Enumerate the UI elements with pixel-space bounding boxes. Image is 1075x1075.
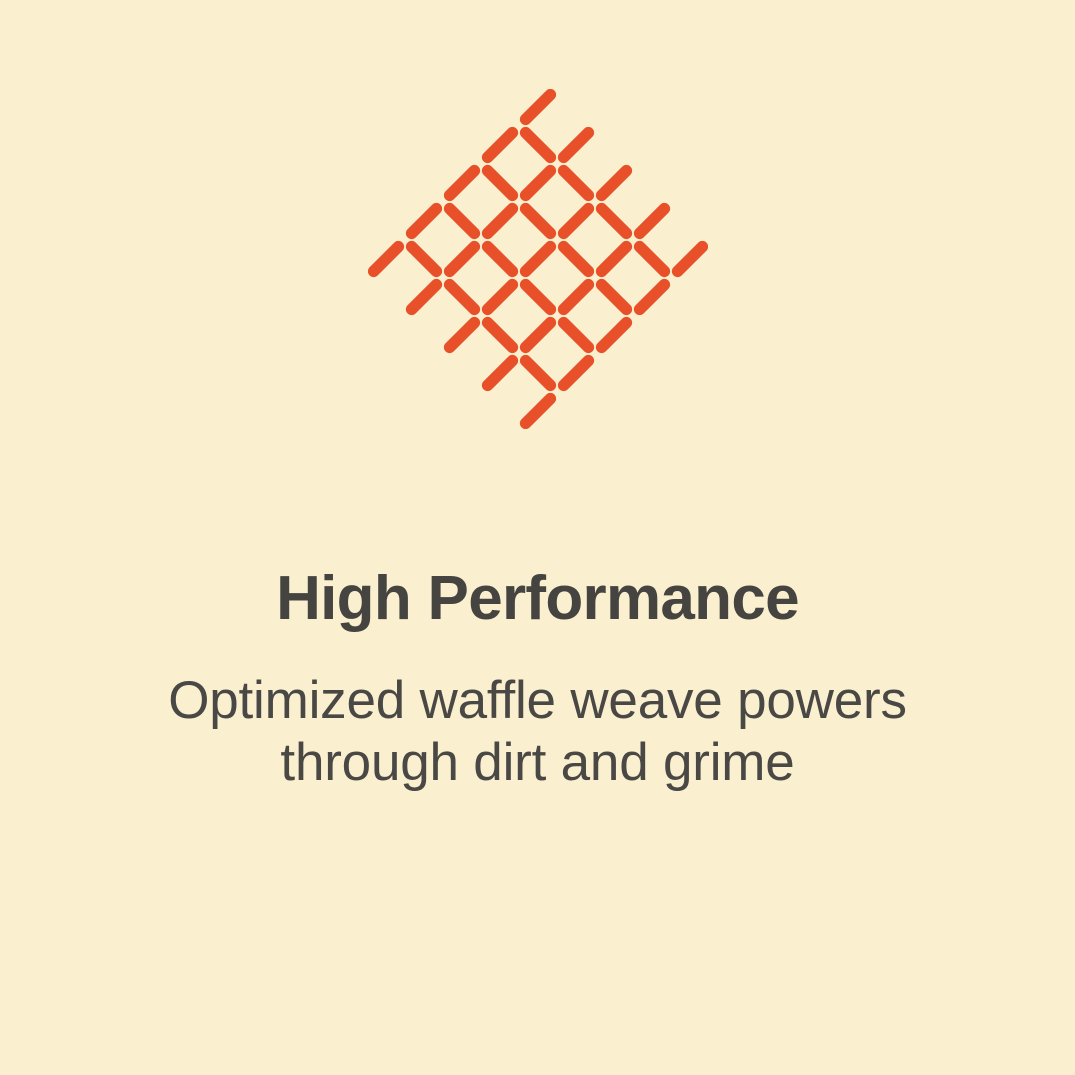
text-area: High Performance Optimized waffle weave … — [0, 500, 1075, 794]
feature-subtitle: Optimized waffle weave powersthrough dir… — [168, 632, 907, 794]
weave-dash — [563, 133, 588, 158]
waffle-weave-icon — [368, 89, 708, 429]
weave-dash — [563, 171, 588, 196]
weave-dash — [525, 171, 550, 196]
weave-dash — [639, 247, 664, 272]
weave-dash — [487, 209, 512, 234]
weave-dash — [411, 285, 436, 310]
icon-area — [0, 0, 1075, 500]
weave-dash — [525, 399, 550, 424]
weave-dash — [487, 361, 512, 386]
weave-dash — [563, 247, 588, 272]
weave-dash — [563, 361, 588, 386]
feature-subtitle-line-1: Optimized waffle weave powers — [168, 670, 907, 732]
weave-dash — [601, 209, 626, 234]
weave-dash — [411, 247, 436, 272]
weave-dash — [601, 323, 626, 348]
weave-dash — [487, 171, 512, 196]
weave-dash — [373, 247, 398, 272]
weave-dash — [449, 285, 474, 310]
weave-dash — [525, 323, 550, 348]
weave-dash — [487, 133, 512, 158]
weave-dash — [525, 209, 550, 234]
feature-subtitle-line-2: through dirt and grime — [168, 732, 907, 794]
weave-dash — [487, 285, 512, 310]
weave-dash — [449, 247, 474, 272]
feature-title: High Performance — [276, 566, 799, 632]
weave-dash — [525, 247, 550, 272]
feature-card: High Performance Optimized waffle weave … — [0, 0, 1075, 1075]
weave-dash — [525, 285, 550, 310]
weave-dash — [411, 209, 436, 234]
weave-dash — [601, 285, 626, 310]
weave-dash — [677, 247, 702, 272]
weave-dash — [487, 323, 512, 348]
weave-dash — [449, 323, 474, 348]
weave-dash — [563, 285, 588, 310]
weave-dash — [639, 209, 664, 234]
weave-dash — [601, 171, 626, 196]
weave-dash — [449, 171, 474, 196]
weave-dash — [601, 247, 626, 272]
weave-dash — [525, 133, 550, 158]
weave-dash — [525, 95, 550, 120]
weave-dash — [487, 247, 512, 272]
weave-dash — [563, 209, 588, 234]
weave-dash — [639, 285, 664, 310]
weave-dash — [525, 361, 550, 386]
weave-dash — [563, 323, 588, 348]
weave-dash — [449, 209, 474, 234]
